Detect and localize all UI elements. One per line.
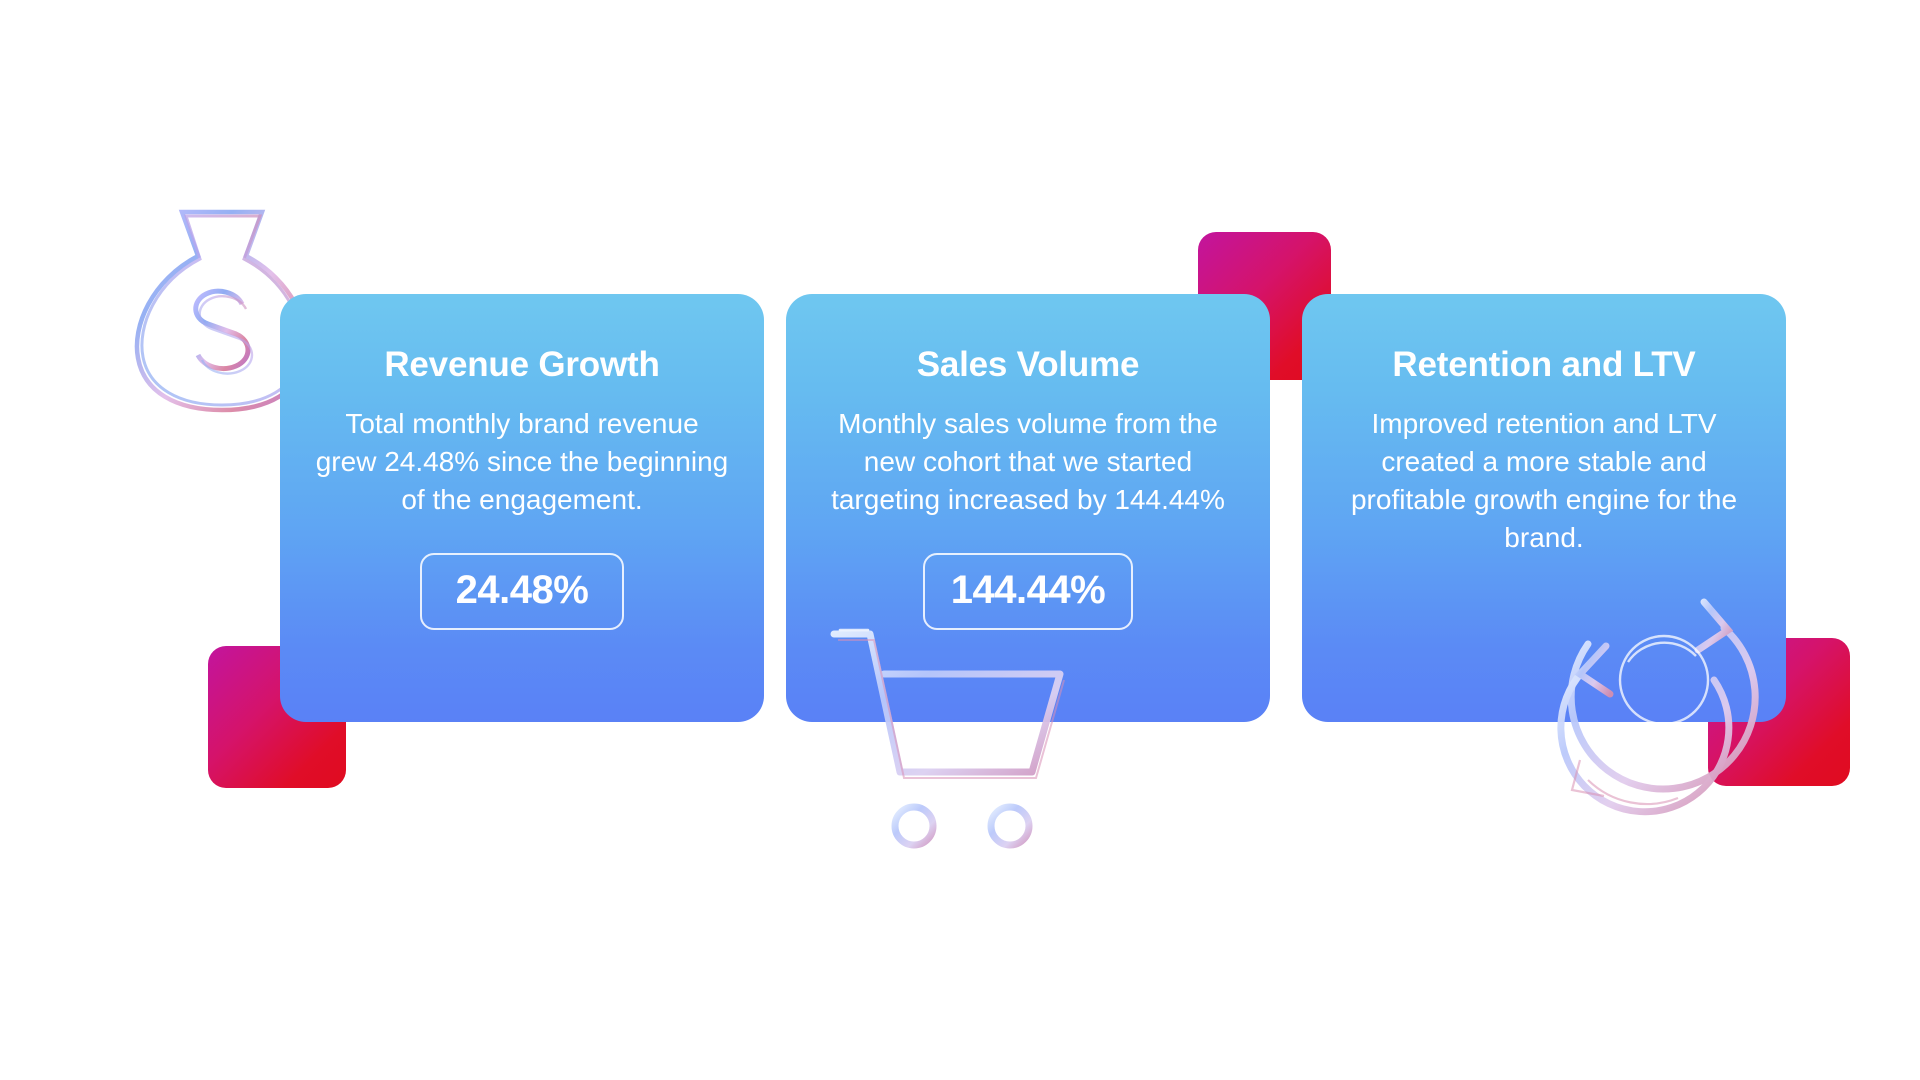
card-title: Retention and LTV [1392,346,1695,385]
card-sales-volume[interactable]: Sales Volume Monthly sales volume from t… [786,294,1270,722]
card-description: Monthly sales volume from the new cohort… [820,405,1236,519]
card-description: Total monthly brand revenue grew 24.48% … [314,405,730,519]
card-title: Sales Volume [917,346,1140,385]
metric-badge: 24.48% [420,553,624,630]
metric-badge: 144.44% [923,553,1133,630]
card-retention-and-ltv[interactable]: Retention and LTV Improved retention and… [1302,294,1786,722]
card-revenue-growth[interactable]: Revenue Growth Total monthly brand reven… [280,294,764,722]
slide-canvas: Revenue Growth Total monthly brand reven… [0,0,1920,1080]
card-description: Improved retention and LTV created a mor… [1336,405,1752,557]
card-title: Revenue Growth [384,346,659,385]
card-row: Revenue Growth Total monthly brand reven… [0,0,1920,1080]
